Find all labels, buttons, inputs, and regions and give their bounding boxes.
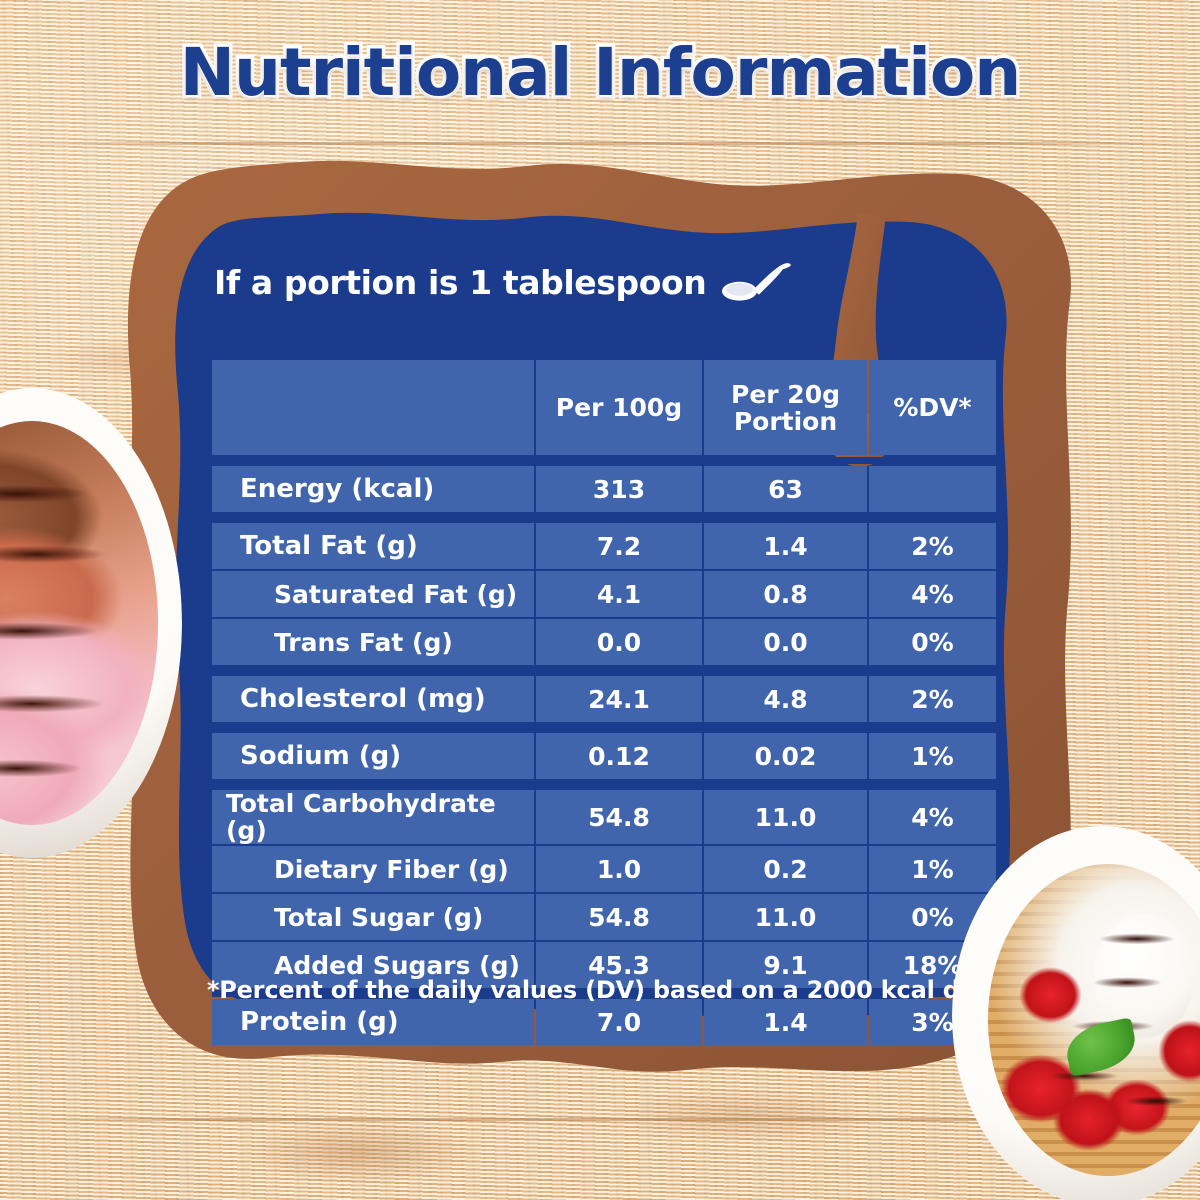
table-row: Sodium (g) 0.12 0.02 1%	[212, 733, 996, 779]
page-title: Nutritional Information	[0, 34, 1200, 111]
waffle	[988, 864, 1200, 1176]
cell-dv: 4%	[869, 571, 996, 617]
header-per-20g-line2: Portion	[734, 407, 837, 436]
row-label: Saturated Fat (g)	[212, 571, 534, 617]
row-label: Dietary Fiber (g)	[212, 846, 534, 892]
cell-dv: 4%	[869, 790, 996, 844]
cell-per-100g: 313	[536, 466, 702, 512]
cell-per-20g: 0.02	[704, 733, 867, 779]
row-label: Trans Fat (g)	[212, 619, 534, 665]
cell-per-20g: 0.8	[704, 571, 867, 617]
row-label: Total Sugar (g)	[212, 894, 534, 940]
row-label: Total Fat (g)	[212, 523, 534, 569]
chocolate-frame: If a portion is 1 tablespoon Per 100g	[96, 140, 1106, 1100]
spoon-icon	[720, 262, 794, 302]
table-row: Energy (kcal) 313 63	[212, 466, 996, 512]
portion-note-text: If a portion is 1 tablespoon	[214, 263, 706, 302]
cell-dv: 2%	[869, 523, 996, 569]
header-per-100g: Per 100g	[536, 360, 702, 455]
header-per-20g-line1: Per 20g	[731, 380, 840, 409]
row-label: Cholesterol (mg)	[212, 676, 534, 722]
cell-per-20g: 1.4	[704, 523, 867, 569]
table-row: Total Carbohydrate (g) 54.8 11.0 4%	[212, 790, 996, 844]
ice-cream-scoops	[0, 421, 158, 825]
header-blank	[212, 360, 534, 455]
cell-dv: 1%	[869, 846, 996, 892]
nutrition-table: Per 100g Per 20g Portion %DV* Energy (kc…	[210, 358, 998, 1047]
row-label: Total Carbohydrate (g)	[212, 790, 534, 844]
cell-per-20g: 11.0	[704, 894, 867, 940]
cell-per-20g: 4.8	[704, 676, 867, 722]
header-per-20g: Per 20g Portion	[704, 360, 867, 455]
cell-per-100g: 1.0	[536, 846, 702, 892]
table-row: Total Fat (g) 7.2 1.4 2%	[212, 523, 996, 569]
header-dv: %DV*	[869, 360, 996, 455]
chocolate-syrup-drizzle	[0, 421, 158, 825]
row-label: Energy (kcal)	[212, 466, 534, 512]
row-spacer	[212, 514, 996, 521]
cell-per-20g: 11.0	[704, 790, 867, 844]
nutrition-infographic: Nutritional Information If a portio	[0, 0, 1200, 1200]
table-row: Cholesterol (mg) 24.1 4.8 2%	[212, 676, 996, 722]
cell-per-100g: 7.2	[536, 523, 702, 569]
table-row: Trans Fat (g) 0.0 0.0 0%	[212, 619, 996, 665]
cell-dv	[869, 466, 996, 512]
cell-per-100g: 54.8	[536, 894, 702, 940]
cell-per-100g: 24.1	[536, 676, 702, 722]
cell-per-100g: 7.0	[536, 999, 702, 1045]
waffle-strawberry-plate-photo	[952, 826, 1200, 1200]
cell-per-100g: 4.1	[536, 571, 702, 617]
row-spacer	[212, 457, 996, 464]
table-row: Total Sugar (g) 54.8 11.0 0%	[212, 894, 996, 940]
portion-note-row: If a portion is 1 tablespoon	[214, 262, 794, 302]
cell-per-20g: 0.0	[704, 619, 867, 665]
cell-per-100g: 0.12	[536, 733, 702, 779]
row-spacer	[212, 724, 996, 731]
row-label: Protein (g)	[212, 999, 534, 1045]
cell-dv: 0%	[869, 619, 996, 665]
row-spacer	[212, 667, 996, 674]
cell-per-100g: 54.8	[536, 790, 702, 844]
row-spacer	[212, 781, 996, 788]
table-row: Saturated Fat (g) 4.1 0.8 4%	[212, 571, 996, 617]
cell-dv: 2%	[869, 676, 996, 722]
cell-per-20g: 1.4	[704, 999, 867, 1045]
ice-cream-bowl-photo	[0, 388, 182, 858]
nutrition-panel: If a portion is 1 tablespoon Per 100g	[96, 140, 1106, 1100]
cell-per-20g: 0.2	[704, 846, 867, 892]
chocolate-drizzle	[988, 864, 1200, 1176]
table-header-row: Per 100g Per 20g Portion %DV*	[212, 360, 996, 455]
table-row: Protein (g) 7.0 1.4 3%	[212, 999, 996, 1045]
table-row: Dietary Fiber (g) 1.0 0.2 1%	[212, 846, 996, 892]
cell-per-20g: 63	[704, 466, 867, 512]
cell-dv: 1%	[869, 733, 996, 779]
row-label: Sodium (g)	[212, 733, 534, 779]
cell-per-100g: 0.0	[536, 619, 702, 665]
